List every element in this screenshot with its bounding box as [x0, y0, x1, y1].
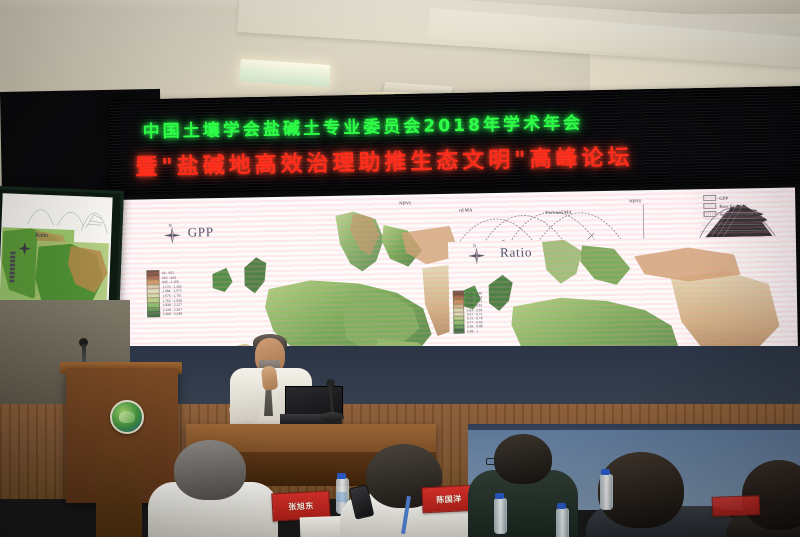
compass-star-gpp: [164, 227, 181, 244]
map-title-gpp: GPP: [188, 224, 214, 240]
legend-item: 2,368 - 3,299: [147, 312, 182, 317]
desk-microphone-base: [320, 412, 344, 422]
legend-swatch: [453, 328, 464, 334]
diagram-label-forward-ma: Forward MA: [545, 210, 571, 215]
conference-hall-photo: 中国土壤学会盐碱土专业委员会2018年学术年会 暨"盐碱地高效治理助推生态文明"…: [0, 0, 800, 537]
diagram-legend-base-fraction: Base Fraction: [719, 203, 746, 208]
legend-swatch: [147, 311, 160, 317]
water-bottle: [494, 498, 507, 534]
compass-north-label-gpp: N: [169, 223, 172, 228]
diagram-legend-gpp: GPP: [719, 195, 728, 200]
diagram-legend-seasonal-dynamics: Seasonal Dynamics: [719, 211, 757, 217]
legend-item: 0.89 - 1: [454, 329, 483, 333]
name-card: [712, 495, 761, 517]
led-banner-line-2: 暨"盐碱地高效治理助推生态文明"高峰论坛: [135, 139, 634, 181]
compass-rose-ratio: N: [468, 247, 485, 268]
podium-base-column: [96, 440, 142, 537]
legend-swatch-gpp: [703, 195, 716, 201]
led-banner-line-1: 中国土壤学会盐碱土专业委员会2018年学术年会: [142, 108, 583, 142]
legend-swatch-base-fraction: [703, 203, 716, 209]
diagram-label-ndvi-left: NDVI: [399, 201, 411, 206]
compass-star-ratio: [468, 247, 485, 264]
bottle-cap: [495, 493, 504, 499]
name-card-text: 张旭东: [288, 500, 314, 512]
ceiling-light-panel-1: [239, 59, 330, 87]
legend-swatch-seasonal-dynamics: [703, 211, 716, 217]
map-legend-ratio: 0.21 - 0.46 0.46 - 0.53 0.54 - 0.57 0.58…: [453, 291, 483, 333]
legend-label: 0.89 - 1: [467, 329, 478, 333]
diagram-label-ndvi-right: NDVI: [629, 198, 641, 203]
bottle-label: [336, 492, 347, 502]
bottle-cap: [557, 503, 566, 509]
map-title-ratio: Ratio: [500, 244, 532, 261]
diagram-legend: GPP Base Fraction Seasonal Dynamics: [703, 194, 757, 217]
podium-globe-emblem-icon: [110, 400, 144, 434]
water-bottle: [600, 474, 613, 510]
name-card-text: 陈国洋: [436, 493, 462, 505]
bottle-cap: [601, 469, 610, 475]
water-bottle: [556, 508, 569, 537]
legend-label: 60 - 652: [162, 271, 174, 275]
legend-label: 2,368 - 3,299: [163, 312, 183, 316]
audience-member-head: [174, 440, 246, 500]
compass-north-label-ratio: N: [473, 243, 476, 248]
bottle-cap: [337, 473, 346, 479]
side-monitor-map-title: Ratio: [35, 233, 48, 239]
compass-rose-gpp: N: [164, 227, 181, 248]
eyeglasses: [486, 458, 510, 465]
speaker-hands: [261, 365, 278, 390]
map-legend-gpp: 60 - 652 653 - 929 930 - 1,169 1,170 - 1…: [146, 271, 182, 317]
